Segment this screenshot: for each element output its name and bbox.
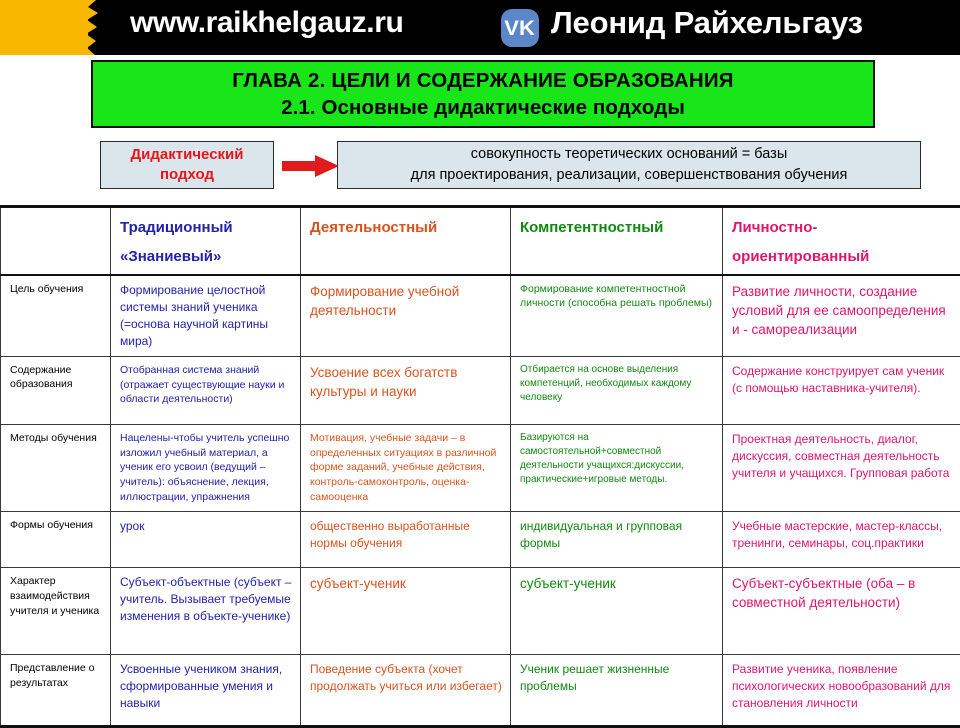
right-arrow-icon [282, 155, 340, 177]
chapter-title-line2: 2.1. Основные дидактические подходы [281, 96, 685, 120]
row-label-goal: Цель обучения [1, 275, 111, 357]
definition-line1: совокупность теоретических оснований = б… [471, 144, 788, 165]
table-row: Характер взаимодействия учителя и ученик… [1, 568, 960, 655]
didactic-approach-term-line1: Дидактический [131, 145, 244, 165]
didactic-approach-term-box: Дидактический подход [100, 141, 274, 189]
row-label-content: Содержание образования [1, 356, 111, 424]
cell-interaction-competence: субъект-ученик [511, 568, 723, 655]
cell-interaction-activity: субъект-ученик [301, 568, 511, 655]
cell-results-traditional: Усвоенные учеником знания, сформированны… [111, 655, 301, 727]
cell-methods-traditional: Нацелены-чтобы учитель успешно изложил у… [111, 424, 301, 512]
chapter-title-line1: ГЛАВА 2. ЦЕЛИ И СОДЕРЖАНИЕ ОБРАЗОВАНИЯ [232, 69, 734, 93]
cell-goal-traditional: Формирование целостной системы знаний уч… [111, 275, 301, 357]
cell-results-activity: Поведение субъекта (хочет продолжать учи… [301, 655, 511, 727]
column-header-traditional-line1: Традиционный [120, 217, 292, 239]
cell-goal-personal: Развитие личности, создание условий для … [723, 275, 960, 357]
cell-interaction-personal: Субъект-субъектные (оба – в совместной д… [723, 568, 960, 655]
didactic-approach-definition-box: совокупность теоретических оснований = б… [337, 141, 921, 189]
yellow-accent-block [0, 0, 88, 55]
vk-logo-glyph: VK [505, 18, 536, 39]
cell-methods-personal: Проектная деятельность, диалог, дискусси… [723, 424, 960, 512]
chapter-title-banner: ГЛАВА 2. ЦЕЛИ И СОДЕРЖАНИЕ ОБРАЗОВАНИЯ 2… [91, 60, 875, 128]
column-header-personal-line2: ориентированный [732, 246, 952, 268]
author-name-text: Леонид Райхельгауз [551, 5, 863, 41]
table-row: Методы обучения Нацелены-чтобы учитель у… [1, 424, 960, 512]
didactic-approach-term-line2: подход [160, 165, 214, 185]
table-row: Представление о результатах Усвоенные уч… [1, 655, 960, 727]
cell-forms-traditional: урок [111, 512, 301, 568]
column-header-competence-line1: Компетентностный [520, 217, 714, 239]
column-header-traditional: Традиционный «Знаниевый» [111, 207, 301, 275]
row-label-interaction: Характер взаимодействия учителя и ученик… [1, 568, 111, 655]
row-label-methods: Методы обучения [1, 424, 111, 512]
cell-goal-activity: Формирование учебной деятельности [301, 275, 511, 357]
table-row: Формы обучения урок общественно выработа… [1, 512, 960, 568]
cell-forms-activity: общественно выработанные нормы обучения [301, 512, 511, 568]
cell-methods-competence: Базируются на самостоятельной+совместной… [511, 424, 723, 512]
cell-content-personal: Содержание конструирует сам ученик (с по… [723, 356, 960, 424]
torn-edge-decoration [84, 0, 106, 55]
cell-content-activity: Усвоение всех богатств культуры и науки [301, 356, 511, 424]
column-header-personal-line1: Личностно- [732, 217, 952, 239]
cell-interaction-traditional: Субъект-объектные (субъект – учитель. Вы… [111, 568, 301, 655]
column-header-activity-line1: Деятельностный [310, 217, 502, 239]
site-url-text: www.raikhelgauz.ru [130, 6, 403, 40]
table-row: Цель обучения Формирование целостной сис… [1, 275, 960, 357]
cell-forms-competence: индивидуальная и групповая формы [511, 512, 723, 568]
definition-line2: для проектирования, реализации, совершен… [411, 165, 848, 186]
cell-content-competence: Отбирается на основе выделения компетенц… [511, 356, 723, 424]
table-row: Содержание образования Отобранная систем… [1, 356, 960, 424]
column-header-activity: Деятельностный [301, 207, 511, 275]
table-header-row: Традиционный «Знаниевый» Деятельностный … [1, 207, 960, 275]
column-header-traditional-line2: «Знаниевый» [120, 246, 292, 268]
table-corner-cell [1, 207, 111, 275]
cell-results-competence: Ученик решает жизненные проблемы [511, 655, 723, 727]
cell-goal-competence: Формирование компетентностной личности (… [511, 275, 723, 357]
vk-logo-icon[interactable]: VK [501, 9, 539, 47]
row-label-forms: Формы обучения [1, 512, 111, 568]
cell-results-personal: Развитие ученика, появление психологичес… [723, 655, 960, 727]
cell-forms-personal: Учебные мастерские, мастер-классы, трени… [723, 512, 960, 568]
row-label-results: Представление о результатах [1, 655, 111, 727]
brand-header-bar: www.raikhelgauz.ru VK Леонид Райхельгауз [0, 0, 960, 55]
approaches-comparison-table: Традиционный «Знаниевый» Деятельностный … [0, 205, 960, 728]
cell-methods-activity: Мотивация, учебные задачи – в определенн… [301, 424, 511, 512]
cell-content-traditional: Отобранная система знаний (отражает суще… [111, 356, 301, 424]
column-header-personal: Личностно- ориентированный [723, 207, 960, 275]
column-header-competence: Компетентностный [511, 207, 723, 275]
